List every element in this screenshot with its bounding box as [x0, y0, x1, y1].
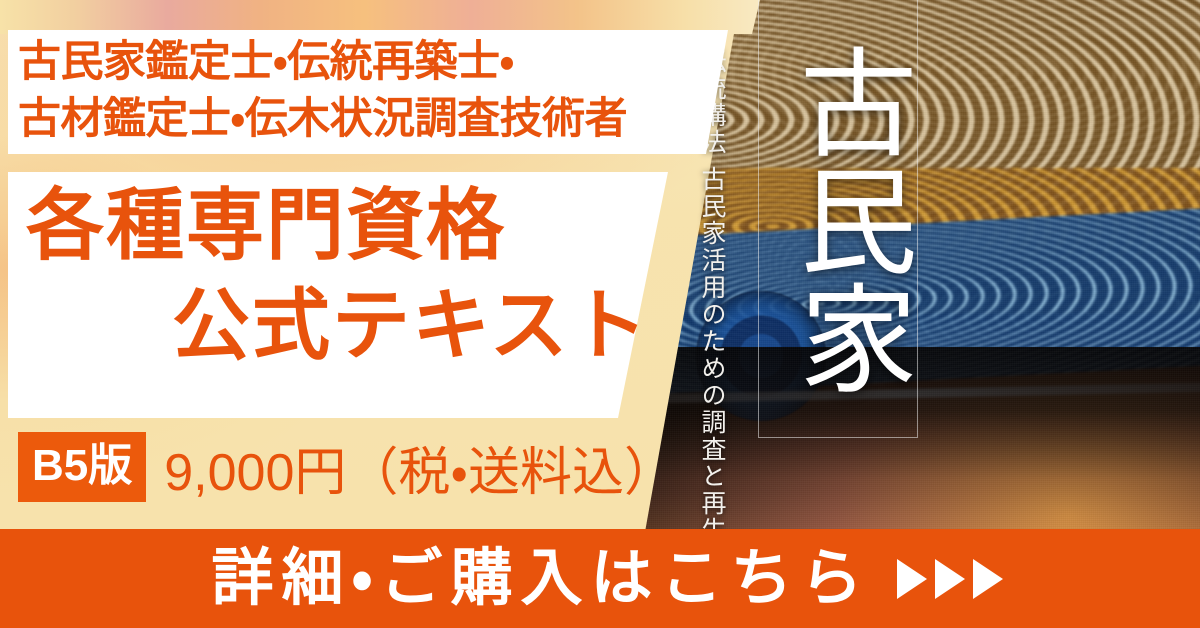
headline-text: 各種専門資格 公式テキスト: [14, 176, 694, 376]
headline-line-2: 公式テキスト: [14, 276, 694, 376]
cta-arrows-group: [897, 559, 1013, 599]
certification-line-1: 古民家鑑定士・伝統再築士・: [18, 34, 728, 91]
cream-top-gradient-strip: [0, 0, 760, 34]
price-amount: 9,000円（税・送料込）: [164, 430, 676, 505]
cta-bar[interactable]: 詳細・ご購入はこちら: [0, 529, 1200, 628]
certifications-text: 古民家鑑定士・伝統再築士・ 古材鑑定士・伝木状況調査技術者: [18, 34, 728, 148]
play-arrow-icon: [973, 559, 1003, 599]
price-row: B5版 9,000円（税・送料込）: [0, 428, 720, 506]
play-arrow-icon: [935, 559, 965, 599]
cta-label[interactable]: 詳細・ご購入はこちら: [187, 548, 870, 610]
play-arrow-icon: [897, 559, 927, 599]
certification-line-2: 古材鑑定士・伝木状況調査技術者: [18, 91, 728, 148]
headline-line-1: 各種専門資格: [14, 176, 694, 276]
promo-banner: 古民家 伝統構法 古民家活用のための調査と再生の 古民家鑑定士・伝統再築士・ 古…: [0, 0, 1200, 628]
book-title-vertical: 古民家: [760, 4, 916, 434]
format-badge: B5版: [18, 432, 146, 502]
